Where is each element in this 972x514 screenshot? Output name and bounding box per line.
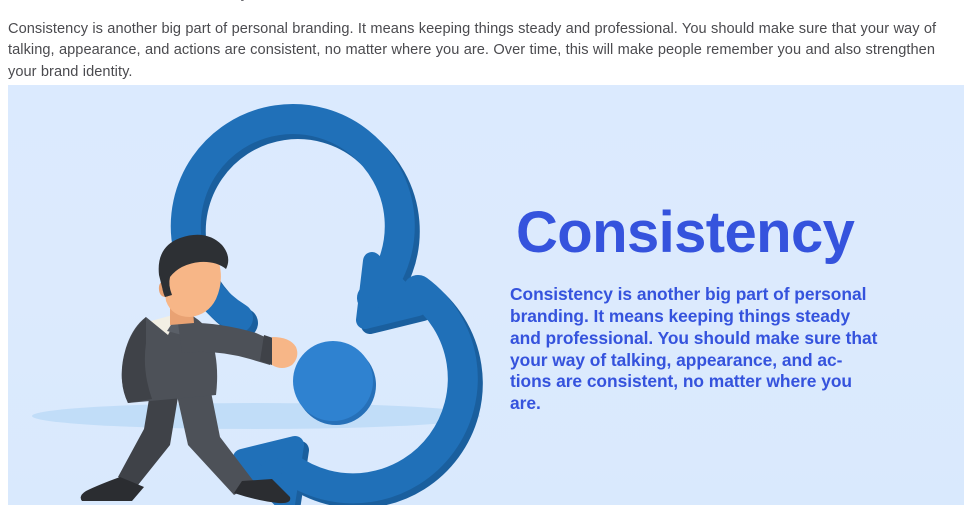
blurb-line: Consistency is another big part of perso… (510, 284, 928, 306)
panel-text-column: Consistency Consistency is another big p… (502, 203, 932, 415)
blurb-line: tions are consistent, no matter where yo… (510, 371, 928, 393)
clipped-heading-fragment: I (0, 0, 972, 2)
blurb-line: branding. It means keeping things steady (510, 306, 928, 328)
page-root: I Consistency is another big part of per… (0, 0, 972, 514)
cycle-center-dot (293, 341, 373, 421)
blurb-line: are. (510, 393, 928, 415)
panel-blurb: Consistency is another big part of perso… (510, 284, 928, 415)
illustration-panel: Consistency Consistency is another big p… (8, 85, 964, 505)
refresh-cycle-icon (186, 119, 468, 505)
panel-inner: Consistency Consistency is another big p… (8, 85, 964, 505)
panel-title: Consistency (516, 203, 932, 262)
man-hand (272, 337, 297, 368)
blurb-line: your way of talking, appearance, and ac- (510, 350, 928, 372)
blurb-line: and professional. You should make sure t… (510, 328, 928, 350)
intro-paragraph: Consistency is another big part of perso… (8, 19, 952, 84)
illustration-artwork (20, 85, 490, 505)
